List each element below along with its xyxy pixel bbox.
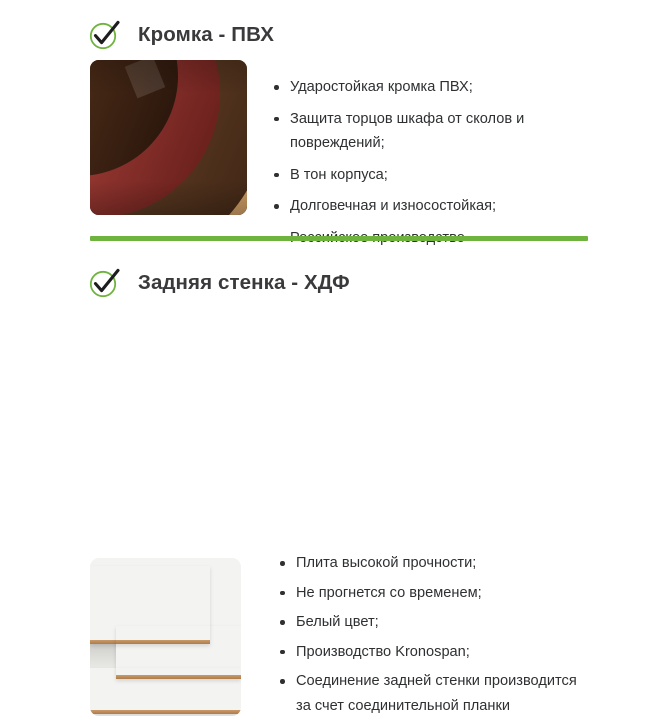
list-item-text: Плита высокой прочности; bbox=[296, 555, 476, 571]
bullet-dot-icon bbox=[274, 85, 279, 90]
bullet-dot-icon bbox=[280, 620, 285, 625]
infographic-page: Кромка - ПВХ Ударостойкая кромка ПВХ; bbox=[0, 0, 652, 500]
list-item: Защита торцов шкафа от сколов и поврежде… bbox=[272, 107, 572, 156]
photo-vignette bbox=[90, 60, 247, 215]
bullet-dot-icon bbox=[280, 679, 285, 684]
check-circle-icon bbox=[88, 267, 120, 299]
bullet-dot-icon bbox=[280, 561, 285, 566]
list-item-text: Производство Kronospan; bbox=[296, 644, 470, 660]
hdf-boards-photo bbox=[90, 558, 241, 716]
list-item: Соединение задней стенки производится за… bbox=[278, 669, 578, 718]
bullet-dot-icon bbox=[274, 117, 279, 122]
hdf-board-shadow-gap bbox=[90, 644, 116, 668]
feature-list-hdf-back-panel: Плита высокой прочности; Не прогнется со… bbox=[278, 551, 578, 723]
section-pvc-edge: Кромка - ПВХ Ударостойкая кромка ПВХ; bbox=[0, 0, 652, 235]
section-heading-hdf-back-panel: Задняя стенка - ХДФ bbox=[88, 266, 350, 300]
list-item-text: Соединение задней стенки производится за… bbox=[296, 673, 577, 714]
list-item: Долговечная и износостойкая; bbox=[272, 194, 572, 219]
hdf-boards-artwork bbox=[90, 558, 241, 716]
bullet-dot-icon bbox=[280, 591, 285, 596]
list-item: Плита высокой прочности; bbox=[278, 551, 578, 576]
section-title: Кромка - ПВХ bbox=[138, 25, 274, 46]
list-item-text: Ударостойкая кромка ПВХ; bbox=[290, 79, 473, 95]
list-item: Производство Kronospan; bbox=[278, 640, 578, 665]
list-item-text: Защита торцов шкафа от сколов и поврежде… bbox=[290, 111, 524, 152]
hdf-board-edge-core bbox=[90, 710, 241, 714]
list-item-text: Не прогнется со временем; bbox=[296, 585, 482, 601]
section-heading-pvc-edge: Кромка - ПВХ bbox=[88, 18, 274, 52]
section-divider bbox=[90, 236, 588, 241]
list-item: Ударостойкая кромка ПВХ; bbox=[272, 75, 572, 100]
section-hdf-back-panel: Задняя стенка - ХДФ Плита высокой прочно… bbox=[0, 248, 652, 500]
feature-list-pvc-edge: Ударостойкая кромка ПВХ; Защита торцов ш… bbox=[272, 75, 572, 250]
pvc-edge-banding-photo bbox=[90, 60, 247, 215]
list-item-text: Долговечная и износостойкая; bbox=[290, 198, 496, 214]
section-title: Задняя стенка - ХДФ bbox=[138, 273, 350, 294]
list-item: В тон корпуса; bbox=[272, 163, 572, 188]
hdf-board-bottom bbox=[90, 668, 241, 714]
check-circle-icon bbox=[88, 19, 120, 51]
bullet-dot-icon bbox=[274, 204, 279, 209]
bullet-dot-icon bbox=[280, 650, 285, 655]
list-item-text: Белый цвет; bbox=[296, 614, 379, 630]
bullet-dot-icon bbox=[274, 173, 279, 178]
edge-banding-artwork bbox=[90, 60, 247, 215]
list-item: Белый цвет; bbox=[278, 610, 578, 635]
list-item: Не прогнется со временем; bbox=[278, 581, 578, 606]
list-item-text: В тон корпуса; bbox=[290, 167, 388, 183]
